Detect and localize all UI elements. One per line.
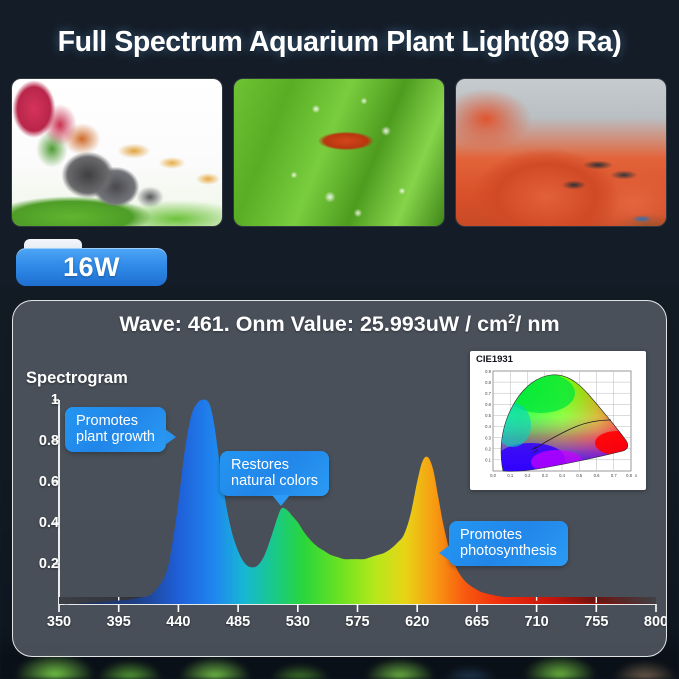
x-tick-755: 755 <box>571 614 621 630</box>
callout-promotes-photosynthesis: Promotes photosynthesis <box>449 521 568 566</box>
x-tick-350: 350 <box>34 614 84 630</box>
svg-text:0.8: 0.8 <box>485 380 491 385</box>
x-tick-395: 395 <box>94 614 144 630</box>
x-tick-485: 485 <box>213 614 263 630</box>
svg-text:0.3: 0.3 <box>485 435 491 440</box>
cie-x-tick-labels: 0.0 0.1 0.2 0.3 0.4 0.5 0.6 0.7 0.8 x <box>490 473 638 478</box>
svg-text:0.3: 0.3 <box>542 473 548 478</box>
svg-text:0.6: 0.6 <box>594 473 600 478</box>
svg-text:0.5: 0.5 <box>576 473 582 478</box>
cie1931-inset: CIE1931 <box>470 351 646 490</box>
x-tick-800: 800 <box>631 614 667 630</box>
svg-text:0.1: 0.1 <box>507 473 513 478</box>
callout-promotes-plant-growth: Promotes plant growth <box>65 407 166 452</box>
svg-text:x: x <box>635 473 638 478</box>
svg-text:0.8: 0.8 <box>626 473 632 478</box>
svg-text:0.7: 0.7 <box>611 473 617 478</box>
x-tick-575: 575 <box>333 614 383 630</box>
product-photo-1 <box>12 79 222 226</box>
svg-text:0.6: 0.6 <box>485 402 491 407</box>
svg-text:0.7: 0.7 <box>485 391 491 396</box>
cie1931-title: CIE1931 <box>476 354 513 365</box>
svg-text:0.2: 0.2 <box>525 473 531 478</box>
badge-label: 16W <box>63 252 120 283</box>
product-photo-3 <box>456 79 666 226</box>
cie-y-tick-labels: 0.9 0.8 0.7 0.6 0.5 0.4 0.3 0.2 0.1 <box>485 369 491 462</box>
svg-text:0.1: 0.1 <box>485 458 491 463</box>
spectrogram-panel: Wave: 461. Onm Value: 25.993uW / cm2/ nm… <box>12 300 667 657</box>
page-title: Full Spectrum Aquarium Plant Light(89 Ra… <box>0 26 679 59</box>
svg-text:0.4: 0.4 <box>559 473 565 478</box>
product-photo-2 <box>234 79 444 226</box>
x-tick-530: 530 <box>273 614 323 630</box>
wattage-badge: 16W <box>16 239 167 286</box>
badge-body: 16W <box>16 248 167 286</box>
x-tick-665: 665 <box>452 614 502 630</box>
product-photo-strip <box>12 79 667 226</box>
svg-text:0.5: 0.5 <box>485 413 491 418</box>
svg-text:0.0: 0.0 <box>490 473 496 478</box>
cie1931-diagram: 0.0 0.1 0.2 0.3 0.4 0.5 0.6 0.7 0.8 x 0.… <box>479 367 639 479</box>
x-tick-710: 710 <box>512 614 562 630</box>
svg-text:0.4: 0.4 <box>485 424 491 429</box>
svg-text:0.9: 0.9 <box>485 369 491 374</box>
x-tick-440: 440 <box>153 614 203 630</box>
x-tick-620: 620 <box>392 614 442 630</box>
callout-restores-natural-colors: Restores natural colors <box>220 451 329 496</box>
svg-text:0.2: 0.2 <box>485 446 491 451</box>
